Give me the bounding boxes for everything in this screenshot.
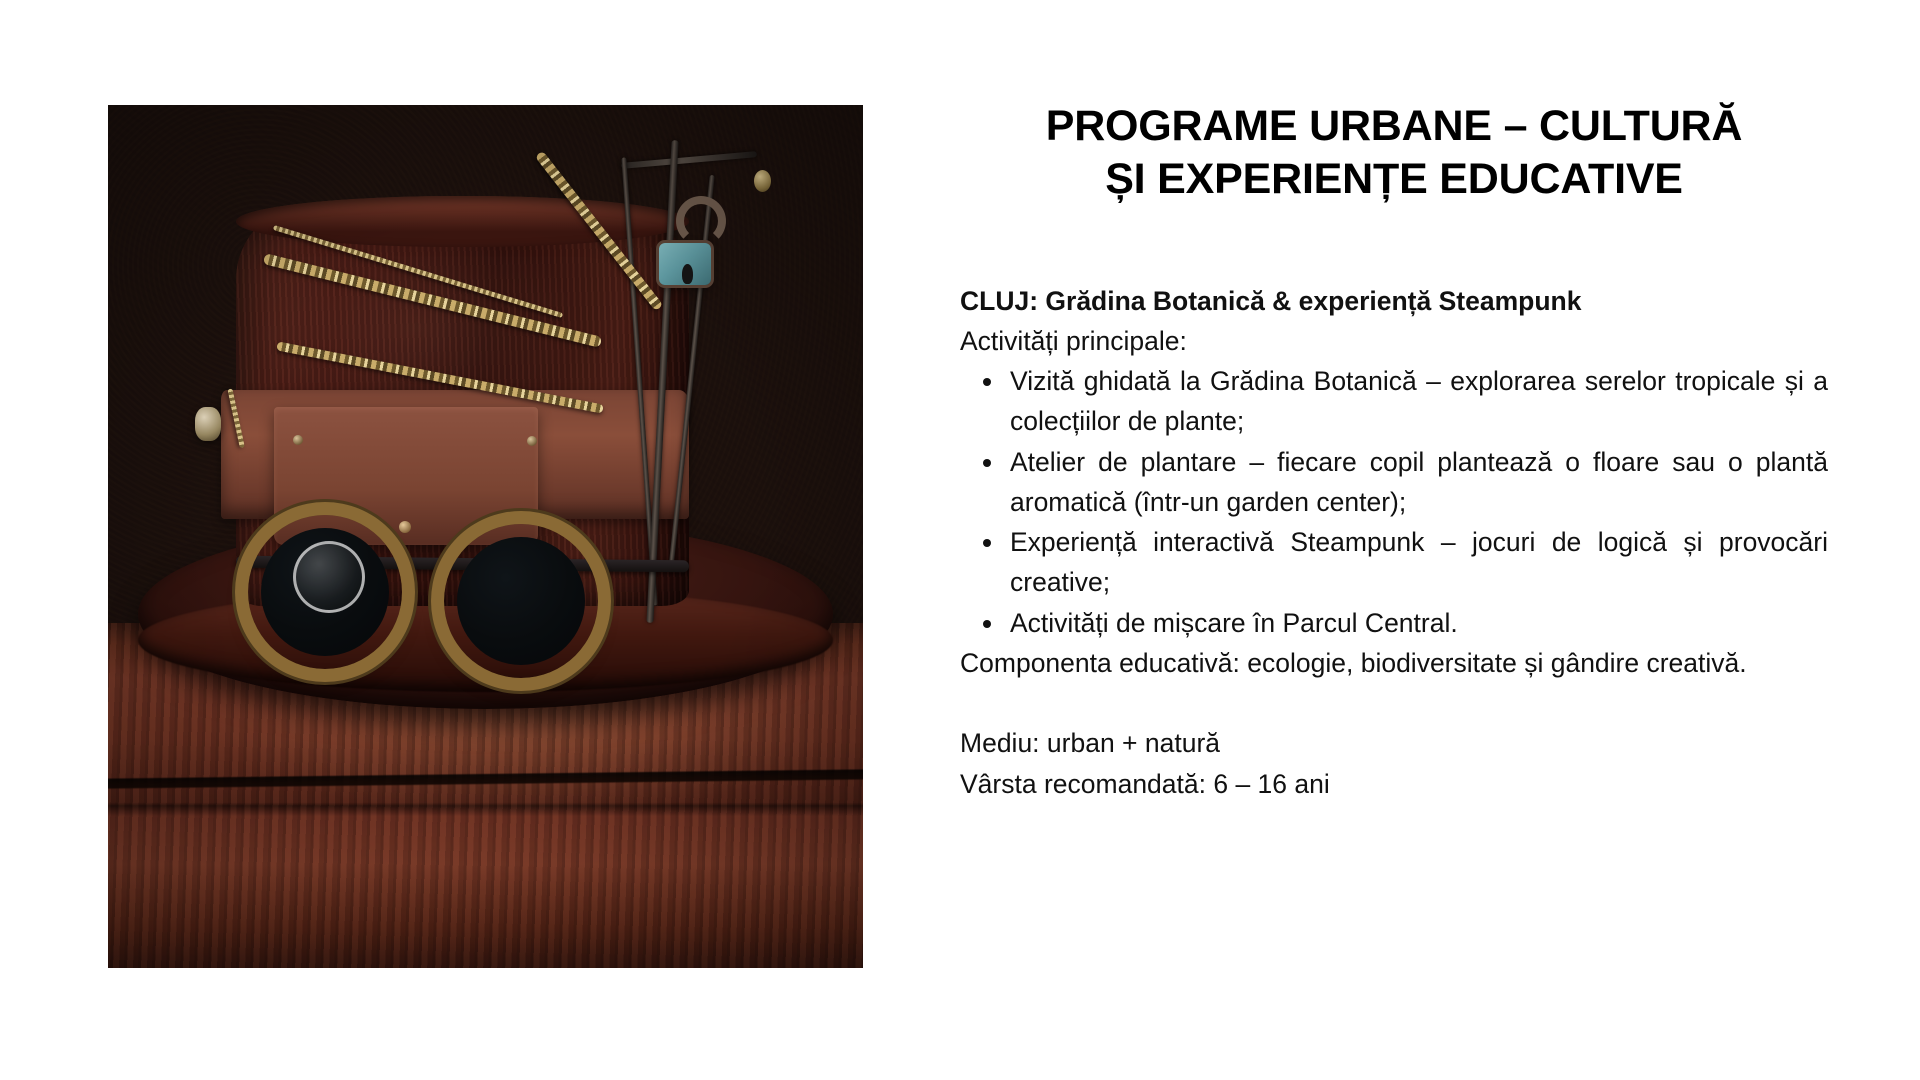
content-column: PROGRAME URBANE – CULTURĂ ȘI EXPERIENȚE … — [960, 100, 1828, 804]
list-item: Activități de mișcare în Parcul Central. — [1006, 603, 1828, 643]
pocket-watch-icon — [195, 407, 221, 441]
photo-stage — [108, 105, 863, 968]
goggle-loupe-icon — [293, 541, 365, 613]
goggle-lens-right — [444, 524, 598, 678]
meta-environment: Mediu: urban + natură — [960, 723, 1828, 763]
pouch-rivet-icon — [399, 521, 411, 533]
section-lead: CLUJ: Grădina Botanică & experiență Stea… — [960, 281, 1828, 321]
padlock-shackle-icon — [676, 196, 726, 246]
list-item: Vizită ghidată la Grădina Botanică – exp… — [1006, 361, 1828, 442]
slide-canvas: PROGRAME URBANE – CULTURĂ ȘI EXPERIENȚE … — [0, 0, 1920, 1080]
steampunk-hat-photo — [108, 105, 863, 968]
page-title: PROGRAME URBANE – CULTURĂ ȘI EXPERIENȚE … — [960, 100, 1828, 207]
meta-age-range: Vârsta recomandată: 6 – 16 ani — [960, 764, 1828, 804]
page-title-line-2: ȘI EXPERIENȚE EDUCATIVE — [960, 153, 1828, 206]
list-item: Experiență interactivă Steampunk – jocur… — [1006, 522, 1828, 603]
educational-component: Componenta educativă: ecologie, biodiver… — [960, 643, 1828, 683]
page-title-line-1: PROGRAME URBANE – CULTURĂ — [960, 100, 1828, 153]
activities-subhead: Activități principale: — [960, 321, 1828, 361]
body-text: CLUJ: Grădina Botanică & experiență Stea… — [960, 281, 1828, 804]
brass-finial-icon — [754, 170, 771, 192]
activities-list: Vizită ghidată la Grădina Botanică – exp… — [960, 361, 1828, 643]
list-item: Atelier de plantare – fiecare copil plan… — [1006, 442, 1828, 523]
band-rivet-icon — [293, 435, 303, 445]
padlock-keyhole-icon — [682, 264, 693, 284]
section-spacer — [960, 683, 1828, 723]
